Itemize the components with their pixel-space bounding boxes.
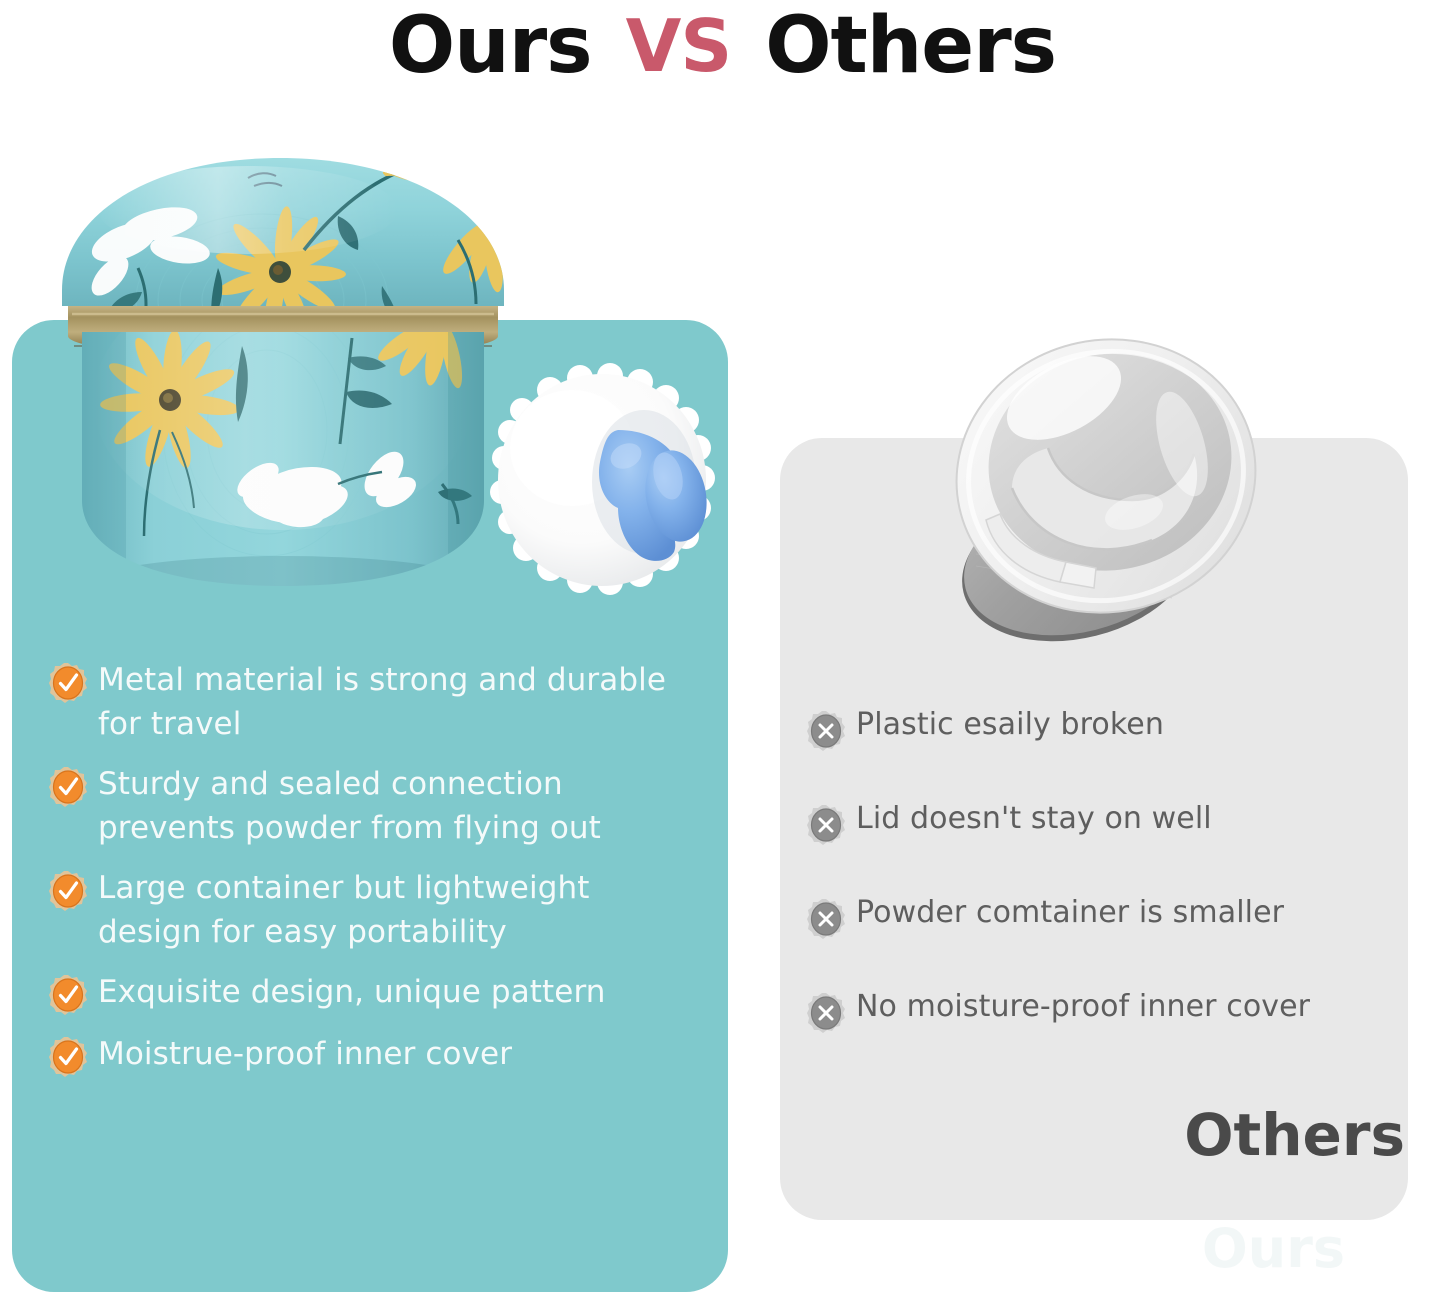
title-others: Others <box>765 7 1056 85</box>
feature-text: Sturdy and sealed connection prevents po… <box>98 762 688 850</box>
feature-text: Moistrue-proof inner cover <box>98 1032 512 1076</box>
feature-text: Exquisite design, unique pattern <box>98 970 606 1014</box>
check-badge-icon <box>48 870 88 912</box>
check-badge-icon <box>48 974 88 1016</box>
cross-badge-icon <box>806 804 846 846</box>
cross-badge-icon <box>806 710 846 752</box>
page-title: Ours VS Others <box>0 0 1445 92</box>
comparison-infographic: Ours VS Others <box>0 0 1445 1301</box>
feature-text: Lid doesn't stay on well <box>856 800 1212 838</box>
daisy-center <box>214 206 346 339</box>
feature-item: Lid doesn't stay on well <box>806 800 1406 846</box>
feature-item: Metal material is strong and durable for… <box>48 658 688 746</box>
title-ours: Ours <box>389 7 592 85</box>
feature-text: Metal material is strong and durable for… <box>98 658 688 746</box>
cross-badge-icon <box>806 898 846 940</box>
feature-text: No moisture-proof inner cover <box>856 988 1310 1026</box>
feature-list-ours: Metal material is strong and durable for… <box>48 658 688 1094</box>
feature-text: Powder comtainer is smaller <box>856 894 1284 932</box>
feature-item: Exquisite design, unique pattern <box>48 970 688 1016</box>
feature-item: Large container but lightweight design f… <box>48 866 688 954</box>
feature-text: Plastic esaily broken <box>856 706 1164 744</box>
check-badge-icon <box>48 662 88 704</box>
feature-list-others: Plastic esaily broken Lid doesn't stay o… <box>806 706 1406 1082</box>
feature-item: Sturdy and sealed connection prevents po… <box>48 762 688 850</box>
feature-item: Powder comtainer is smaller <box>806 894 1406 940</box>
brand-label-ours: Ours <box>1202 1222 1345 1276</box>
feature-item: Moistrue-proof inner cover <box>48 1032 688 1078</box>
check-badge-icon <box>48 766 88 808</box>
cross-badge-icon <box>806 992 846 1034</box>
feature-item: No moisture-proof inner cover <box>806 988 1406 1034</box>
feature-item: Plastic esaily broken <box>806 706 1406 752</box>
title-vs: VS <box>626 10 732 82</box>
brand-label-others: Others <box>1184 1106 1405 1164</box>
check-badge-icon <box>48 1036 88 1078</box>
feature-text: Large container but lightweight design f… <box>98 866 688 954</box>
